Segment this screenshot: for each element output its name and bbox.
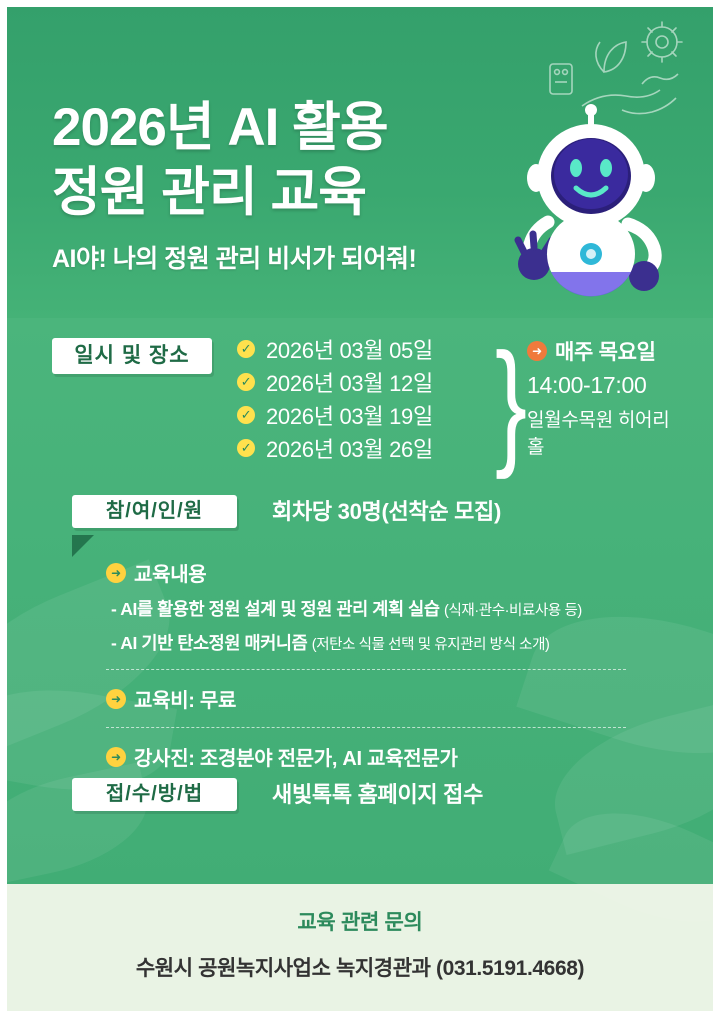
footer-contact: 수원시 공원녹지사업소 녹지경관과 (031.5191.4668) xyxy=(0,952,720,982)
curriculum-heading-row: ➜ 교육내용 xyxy=(106,558,626,587)
poster-subtitle: AI야! 나의 정원 관리 비서가 되어줘! xyxy=(52,239,522,275)
corner-fold-decoration xyxy=(72,535,94,557)
participants-tag: 참/여/인/원 xyxy=(72,495,237,528)
arrow-icon: ➜ xyxy=(527,341,547,361)
arrow-icon: ➜ xyxy=(106,563,126,583)
curriculum-heading: 교육내용 xyxy=(134,558,206,587)
datetime-tag: 일시 및 장소 xyxy=(52,338,212,374)
participants-section: 참/여/인/원 회차당 30명(선착순 모집) xyxy=(72,495,672,535)
date-item: ✓ 2026년 03월 19일 xyxy=(237,398,433,431)
date-text: 2026년 03월 12일 xyxy=(266,366,433,398)
check-icon: ✓ xyxy=(237,439,255,457)
fee-heading: 교육비: 무료 xyxy=(134,684,236,713)
weekly-text: 매주 목요일 xyxy=(555,336,656,366)
schedule-detail: ➜ 매주 목요일 14:00-17:00 일월수목원 히어리홀 xyxy=(527,336,672,459)
curriculum-item-main: - AI 기반 탄소정원 매커니즘 xyxy=(111,633,307,653)
curriculum-item-note: (식재·관수·비료사용 등) xyxy=(444,603,582,619)
date-text: 2026년 03월 26일 xyxy=(266,432,433,464)
curriculum-item: - AI를 활용한 정원 설계 및 정원 관리 계획 실습 (식재·관수·비료사… xyxy=(111,596,626,621)
date-item: ✓ 2026년 03월 12일 xyxy=(237,365,433,398)
apply-section: 접/수/방/법 새빛톡톡 홈페이지 접수 xyxy=(72,778,672,818)
robot-mascot-illustration xyxy=(496,104,686,319)
arrow-icon: ➜ xyxy=(106,689,126,709)
apply-value: 새빛톡톡 홈페이지 접수 xyxy=(272,778,483,811)
title-block: 2026년 AI 활용 정원 관리 교육 AI야! 나의 정원 관리 비서가 되… xyxy=(52,96,522,275)
content-section: ➜ 교육내용 - AI를 활용한 정원 설계 및 정원 관리 계획 실습 (식재… xyxy=(106,558,626,771)
brace-decoration: } xyxy=(495,334,527,473)
apply-tag: 접/수/방/법 xyxy=(72,778,237,811)
title-line-1: 2026년 AI 활용 xyxy=(52,96,522,161)
date-item: ✓ 2026년 03월 26일 xyxy=(237,431,433,464)
dashed-divider xyxy=(106,669,626,670)
fee-heading-row: ➜ 교육비: 무료 xyxy=(106,684,626,713)
check-icon: ✓ xyxy=(237,373,255,391)
title-line-2: 정원 관리 교육 xyxy=(52,161,522,226)
place-text: 일월수목원 히어리홀 xyxy=(527,405,672,459)
dashed-divider xyxy=(106,727,626,728)
curriculum-item: - AI 기반 탄소정원 매커니즘 (저탄소 식물 선택 및 유지관리 방식 소… xyxy=(111,630,626,655)
time-text: 14:00-17:00 xyxy=(527,372,672,399)
curriculum-item-main: - AI를 활용한 정원 설계 및 정원 관리 계획 실습 xyxy=(111,599,440,619)
participants-value: 회차당 30명(선착순 모집) xyxy=(272,495,501,528)
footer-section: 교육 관련 문의 수원시 공원녹지사업소 녹지경관과 (031.5191.466… xyxy=(0,884,720,1018)
poster-root: 2026년 AI 활용 정원 관리 교육 AI야! 나의 정원 관리 비서가 되… xyxy=(0,0,720,1018)
instructors-heading-row: ➜ 강사진: 조경분야 전문가, AI 교육전문가 xyxy=(106,742,626,771)
check-icon: ✓ xyxy=(237,406,255,424)
footer-title: 교육 관련 문의 xyxy=(0,906,720,936)
datetime-section: 일시 및 장소 ✓ 2026년 03월 05일 ✓ 2026년 03월 12일 … xyxy=(52,332,672,472)
curriculum-item-note: (저탄소 식물 선택 및 유지관리 방식 소개) xyxy=(312,637,550,653)
instructors-heading: 강사진: 조경분야 전문가, AI 교육전문가 xyxy=(134,742,458,771)
check-icon: ✓ xyxy=(237,340,255,358)
weekly-row: ➜ 매주 목요일 xyxy=(527,336,672,366)
date-item: ✓ 2026년 03월 05일 xyxy=(237,332,433,365)
date-list: ✓ 2026년 03월 05일 ✓ 2026년 03월 12일 ✓ 2026년 … xyxy=(237,332,433,464)
arrow-icon: ➜ xyxy=(106,747,126,767)
date-text: 2026년 03월 05일 xyxy=(266,333,433,365)
date-text: 2026년 03월 19일 xyxy=(266,399,433,431)
